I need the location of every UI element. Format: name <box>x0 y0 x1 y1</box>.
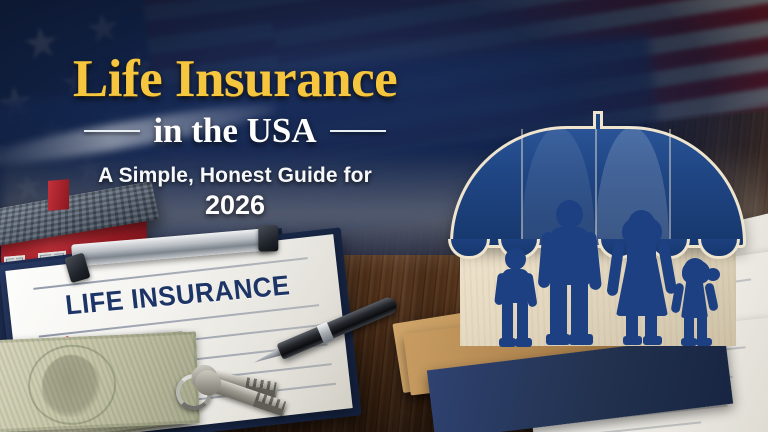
clipboard-clamp <box>258 225 278 251</box>
divider-right <box>330 130 386 133</box>
poster-tagline: A Simple, Honest Guide for <box>0 164 470 188</box>
poster-title: Life Insurance <box>0 54 470 106</box>
divider-left <box>84 130 140 133</box>
house-keys <box>168 368 298 430</box>
poster-subtitle: in the USA <box>153 111 316 151</box>
family-silhouettes <box>460 196 736 348</box>
insurance-poster: ★ ★ ★ ★ ★ ★ ★ ★ ★ ★ ★ ★ ★ ★ ★ ★ ★ ★ <box>0 0 768 432</box>
family-umbrella-cutout <box>438 118 756 348</box>
figure-boy <box>492 248 538 348</box>
figure-girl <box>672 258 722 350</box>
umbrella-finial <box>593 111 603 129</box>
title-block: Life Insurance in the USA A Simple, Hone… <box>0 54 470 221</box>
clipboard-heading: LIFE INSURANCE <box>64 269 292 322</box>
figure-father <box>538 200 600 348</box>
poster-year: 2026 <box>0 190 470 221</box>
figure-mother <box>610 210 674 348</box>
subtitle-row: in the USA <box>0 111 470 151</box>
cash-bills <box>0 336 194 432</box>
